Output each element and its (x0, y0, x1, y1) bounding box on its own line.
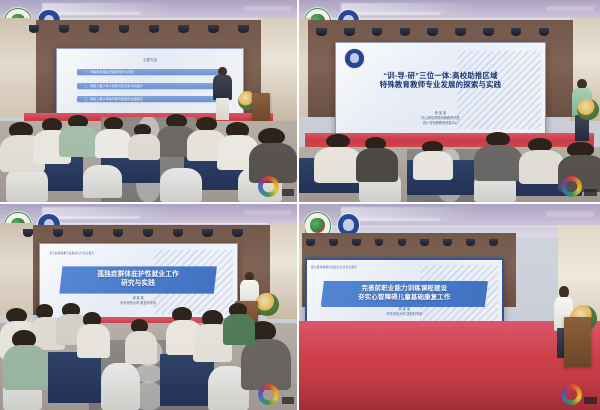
slide-title: “训-导-研”三位一体:高校助推区域 特殊教育教师专业发展的探索与实践 (349, 71, 533, 91)
slide-author-block: 周 某 某 华东师范大学 康复科学系 (307, 307, 502, 317)
slide-title-line-1: “训-导-研”三位一体:高校助推区域 (349, 71, 533, 81)
sohu-ring-watermark-icon (258, 384, 279, 405)
collage-panel-top-right[interactable]: 第七届特殊教育发展论坛 “训-导-研”三位一体:高校助推区域 特殊教育教师专业发… (299, 0, 600, 204)
flower-arrangement (577, 99, 598, 120)
audience-chair (101, 363, 140, 410)
watermark-label (584, 189, 597, 196)
audience-table (160, 354, 213, 405)
slide-top-strip (336, 43, 545, 49)
audience-chair (160, 168, 202, 202)
watermark-label (282, 397, 294, 404)
ceiling-lights (18, 229, 268, 237)
slide-bullet-3-text: 三、残疾儿童少年教育教育质量的全面提高 (77, 97, 143, 101)
audience-chair (83, 165, 122, 198)
slide-university-badge-icon (344, 48, 365, 69)
slide-title-line-2: 特殊教育教师专业发展的探索与实践 (349, 80, 533, 90)
ceiling-lights (302, 239, 510, 246)
audience-body (356, 148, 398, 181)
slide-bullet-2: 二、残疾儿童少年义务教育普及水平的提升 (77, 83, 224, 89)
banner-right-text (546, 211, 594, 217)
banner-right-text (546, 6, 594, 11)
banner-right-text (244, 210, 292, 215)
audience-body (77, 324, 110, 357)
slide-title: 完善前职业能力训练课程建设 夯实心智障碍儿童基础康复工作 (321, 281, 488, 308)
slide-affiliation-1: 华东师范大学 康复科学系 (307, 312, 502, 317)
ceiling-lights (311, 28, 564, 36)
collage-panel-bottom-left[interactable]: 第七届特殊教育发展论坛分论坛报告 孤独症群体庇护性就业工作 研究与实践 谢 某 … (0, 204, 299, 410)
slide-bullet-2-text: 二、残疾儿童少年义务教育普及水平的提升 (77, 84, 143, 88)
audience-top-right (299, 129, 600, 202)
sohu-ring-watermark-icon (561, 176, 582, 197)
audience-head (486, 132, 510, 146)
audience-body (59, 126, 98, 158)
photo-collage: 主要内容 一、特殊教育事业发展的现状与问题 二、残疾儿童少年义务教育普及水平的提… (0, 0, 600, 410)
audience-top-left (0, 109, 297, 202)
projection-screen: 第七届特殊教育发展论坛 “训-导-研”三位一体:高校助推区域 特殊教育教师专业发… (335, 42, 546, 135)
collage-panel-bottom-right[interactable]: 第七届特殊教育发展论坛分论坛报告 完善前职业能力训练课程建设 夯实心智障碍儿童基… (299, 204, 600, 410)
audience-body (3, 345, 48, 389)
slide-kicker: 第七届特殊教育发展论坛分论坛报告 (311, 265, 357, 269)
audience-body (223, 314, 256, 345)
audience-body (95, 129, 131, 159)
watermark-label (282, 189, 294, 196)
audience-bottom-left (0, 299, 297, 410)
podium (564, 317, 591, 366)
collage-panel-top-left[interactable]: 主要内容 一、特殊教育事业发展的现状与问题 二、残疾儿童少年义务教育普及水平的提… (0, 0, 299, 204)
sohu-ring-watermark-icon (561, 384, 582, 405)
title-slide: 第七届特殊教育发展论坛 “训-导-研”三位一体:高校助推区域 特殊教育教师专业发… (336, 43, 545, 134)
presenter-torso (213, 75, 232, 100)
title-slide: 第七届特殊教育发展论坛分论坛报告 完善前职业能力训练课程建设 夯实心智障碍儿童基… (307, 260, 502, 326)
slide-affiliation-2: 四川省特殊教育资源中心 (336, 121, 545, 126)
audience-body (125, 331, 158, 364)
audience-body (413, 151, 452, 180)
slide-title-line-2: 研究与实践 (65, 280, 211, 289)
sohu-ring-watermark-icon (258, 176, 279, 197)
audience-body (128, 134, 161, 160)
audience-table (48, 352, 101, 403)
stage-front (299, 381, 600, 410)
ceiling-lights (24, 25, 274, 33)
slide-bullet-1-text: 一、特殊教育事业发展的现状与问题 (77, 70, 134, 74)
slide-author-block: 黄 某 某 乐山师范学院特殊教育学院 四川省特殊教育资源中心 (336, 111, 545, 126)
slide-title: 孤独症群体庇护性就业工作 研究与实践 (59, 266, 217, 293)
audience-body (241, 339, 291, 390)
audience-body (314, 147, 362, 183)
slide-kicker: 第七届特殊教育发展论坛分论坛报告 (49, 251, 94, 255)
slide-title-line-1: 孤独症群体庇护性就业工作 (65, 271, 211, 280)
slide-bullet-3: 三、残疾儿童少年教育教育质量的全面提高 (77, 96, 224, 102)
slide-title-line-1: 完善前职业能力训练课程建设 (326, 285, 482, 293)
projection-screen: 第七届特殊教育发展论坛分论坛报告 完善前职业能力训练课程建设 夯实心智障碍儿童基… (305, 258, 504, 328)
slide-title-line-2: 夯实心智障碍儿童基础康复工作 (326, 294, 482, 302)
banner-right-text (244, 6, 292, 11)
audience-head (326, 134, 350, 149)
watermark-label (584, 397, 597, 404)
slide-heading: 主要内容 (67, 57, 234, 62)
slide-bullet-1: 一、特殊教育事业发展的现状与问题 (77, 69, 224, 75)
audience-body (474, 145, 522, 181)
